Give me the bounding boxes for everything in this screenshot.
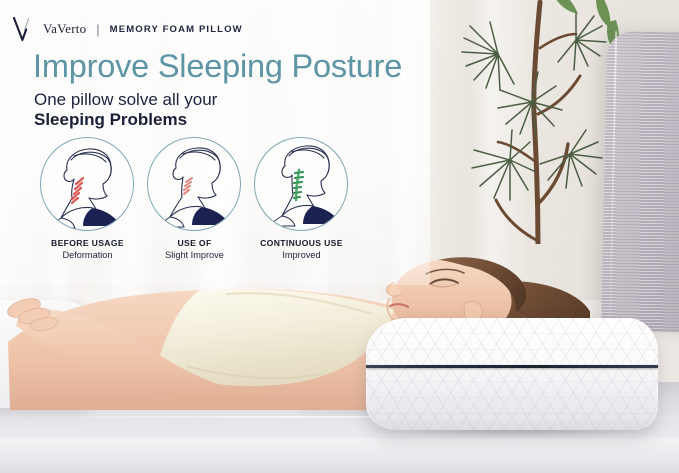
step-subtitle: Deformation — [40, 250, 135, 262]
step-subtitle: Improved — [254, 250, 349, 262]
mattress-edge — [0, 438, 679, 473]
pillow-piping — [366, 365, 658, 368]
neck-posture-improving-icon — [147, 137, 241, 231]
vaverto-v-mark-icon — [13, 16, 35, 42]
potted-plant — [452, 0, 622, 244]
neck-posture-healthy-icon — [254, 137, 348, 231]
subheadline-line-2: Sleeping Problems — [34, 110, 187, 130]
step-title: USE OF — [147, 238, 242, 249]
posture-steps: BEFORE USAGE Deformation — [40, 137, 350, 267]
page-title: Improve Sleeping Posture — [33, 48, 402, 85]
step-use-of: USE OF Slight Improve — [147, 137, 242, 262]
step-subtitle: Slight Improve — [147, 250, 242, 262]
step-continuous-use: CONTINUOUS USE Improved — [254, 137, 349, 262]
brand-bar: VaVerto | MEMORY FOAM PILLOW — [13, 16, 243, 42]
neck-posture-deformed-icon — [40, 137, 134, 231]
step-title: CONTINUOUS USE — [254, 238, 349, 249]
brand-tagline: MEMORY FOAM PILLOW — [110, 24, 243, 35]
product-marketing-image: VaVerto | MEMORY FOAM PILLOW Improve Sle… — [0, 0, 679, 473]
memory-foam-pillow — [366, 318, 658, 430]
step-before-usage: BEFORE USAGE Deformation — [40, 137, 135, 262]
brand-name: VaVerto — [43, 21, 86, 37]
step-title: BEFORE USAGE — [40, 238, 135, 249]
subheadline-line-1: One pillow solve all your — [34, 90, 217, 110]
brand-divider: | — [96, 22, 99, 37]
bed-headboard — [601, 31, 679, 333]
pillow-quilted-texture — [366, 318, 658, 430]
